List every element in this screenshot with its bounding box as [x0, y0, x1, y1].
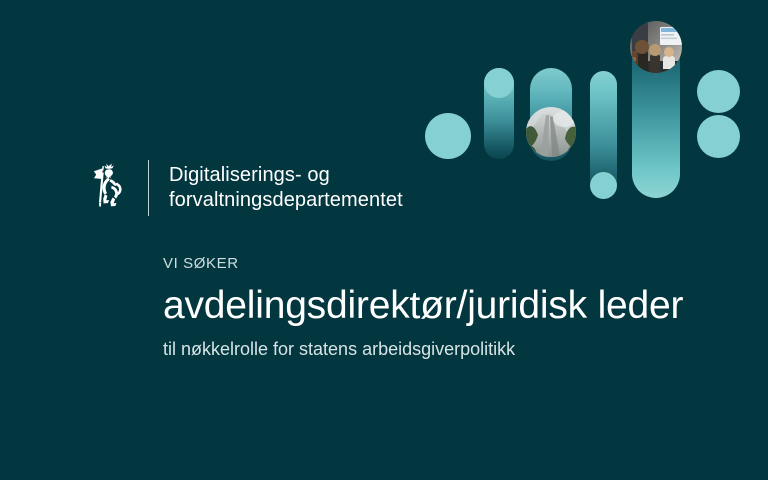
coat-of-arms-icon — [88, 162, 130, 214]
department-name: Digitaliserings- og forvaltningsdepartem… — [169, 163, 403, 213]
decor-pill-5 — [632, 30, 680, 198]
eyebrow-label: VI SØKER — [163, 254, 743, 274]
page-title: avdelingsdirektør/juridisk leder — [163, 281, 743, 331]
decor-dot-5b — [697, 115, 740, 158]
poster-canvas: Digitaliserings- og forvaltningsdepartem… — [0, 0, 768, 480]
decor-dot-2 — [484, 68, 514, 98]
decor-pill-3 — [530, 68, 572, 161]
photo-bubble-boardwalk — [526, 107, 576, 157]
decor-pill-2 — [484, 68, 514, 159]
logo-divider — [148, 160, 149, 216]
decor-dot-4 — [590, 172, 617, 199]
decor-dot-5a — [697, 70, 740, 113]
logo-lockup: Digitaliserings- og forvaltningsdepartem… — [88, 160, 403, 216]
decor-dot-1 — [425, 113, 471, 159]
tagline: til nøkkelrolle for statens arbeidsgiver… — [163, 337, 743, 361]
photo-bubble-meeting — [630, 21, 682, 73]
decor-pill-4 — [590, 71, 617, 199]
headline-block: VI SØKER avdelingsdirektør/juridisk lede… — [163, 254, 743, 361]
